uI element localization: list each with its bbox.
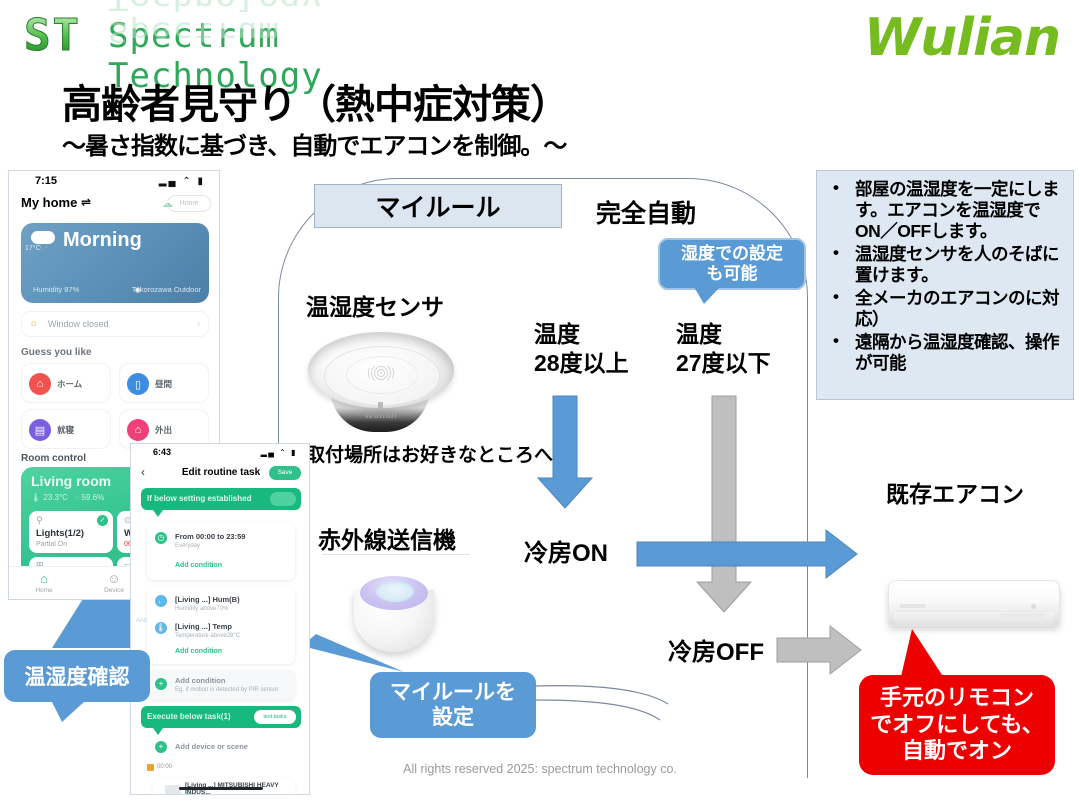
temp-humidity-sensor-image: Wulian <box>308 326 454 436</box>
scene-label: ホーム <box>57 378 82 390</box>
condition-title: From 00:00 to 23:59 <box>175 532 245 541</box>
scene-icon-away: ⌂ <box>127 419 149 441</box>
weather-temp: 17°C <box>25 245 41 252</box>
room-humidity-value: 59.6% <box>82 493 105 502</box>
sensor-grill-icon <box>366 365 396 381</box>
ir-cap-ring-icon <box>376 581 414 602</box>
temp-threshold-low: 温度 27度以下 <box>676 320 771 378</box>
add-device-row[interactable]: + Add device or scene <box>147 736 295 758</box>
page-subtitle: ～暑さ指数に基づき、自動でエアコンを制御。～ <box>62 126 566 161</box>
humidity-icon: ◌ <box>75 493 80 502</box>
execute-banner-text: Execute below task(1) <box>147 712 231 721</box>
home-title[interactable]: My home <box>21 195 77 210</box>
save-button[interactable]: Save <box>269 466 301 480</box>
nav-label: Home <box>35 587 52 594</box>
bell-icon: ⌂ <box>31 318 37 329</box>
thermometer-icon: 🌡 <box>31 493 41 502</box>
status-bar: 6:43 ▂▄ ⌃ ▮ <box>131 444 309 462</box>
mount-note: 取付場所はお好きなところへ <box>306 440 553 467</box>
page-title: 高齢者見守り（熱中症対策） <box>62 72 569 130</box>
full-auto-label: 完全自動 <box>596 194 696 230</box>
scene-card[interactable]: ▤ 就寝 <box>21 409 111 449</box>
add-condition-sub: Eg. if motion is detected by PIR sensor <box>175 687 278 693</box>
window-status-row[interactable]: ⌂ Window closed › <box>21 311 209 337</box>
room-name: Living room <box>31 473 111 489</box>
condition-sub: Everyday <box>175 543 200 549</box>
bullet-item: 部屋の温湿度を一定にします。エアコンを温湿度でON／OFFします。 <box>855 179 1065 242</box>
test-task-button[interactable]: test tasks <box>254 710 296 724</box>
cloud-shape <box>31 231 55 244</box>
sensor-brand-text: Wulian <box>308 410 454 420</box>
condition-title: [Living ...] Temp <box>175 622 232 631</box>
remote-override-text: 手元のリモコン でオフにしても、 自動でオン <box>870 685 1044 765</box>
scene-card[interactable]: ▯ 昼間 <box>119 363 209 403</box>
and-operator-label: And <box>136 618 147 624</box>
weather-greeting: Morning <box>63 229 142 252</box>
home-pill-button[interactable]: Home <box>167 195 211 212</box>
status-bar: 7:15 ▂▄ ⌃ ▮ <box>9 171 219 193</box>
sensor-led-icon <box>378 402 383 408</box>
condition-card[interactable]: ◷ From 00:00 to 23:59 Everyday Add condi… <box>147 522 295 580</box>
condition-title: [Living ...] Hum(B) <box>175 595 240 604</box>
st-monogram: ST <box>24 10 81 61</box>
sensor-label: 温湿度センサ <box>306 288 444 322</box>
st-wordmark-reflection: Spectrum Technology <box>108 0 464 48</box>
title-bar: ‹ Edit routine task Save <box>131 462 309 484</box>
existing-ac-label: 既存エアコン <box>886 475 1024 509</box>
weather-location: Tokorozawa Outdoor <box>132 285 201 294</box>
divider-line <box>322 554 470 555</box>
home-icon: ⌂ <box>9 571 79 586</box>
copyright-footer: All rights reserved 2025: spectrum techn… <box>0 762 1080 776</box>
room-control-header: Room control <box>21 453 86 464</box>
bullet-item: 温湿度センサを人のそばに置けます。 <box>855 244 1065 286</box>
nav-item-home[interactable]: ⌂ Home <box>9 571 79 594</box>
condition-banner-text: If below setting established <box>147 494 251 503</box>
nav-label: Device <box>104 587 124 594</box>
window-status-text: Window closed <box>48 319 109 329</box>
feature-bullet-panel: 部屋の温湿度を一定にします。エアコンを温湿度でON／OFFします。 温湿度センサ… <box>816 170 1074 400</box>
wulian-logo: Wulian <box>864 8 1060 68</box>
weather-humidity: Humidity 87% <box>33 285 79 294</box>
device-sub: Partial On <box>36 541 67 548</box>
status-time: 7:15 <box>35 175 57 187</box>
remote-override-callout: 手元のリモコン でオフにしても、 自動でオン <box>859 675 1055 775</box>
clock-icon: ◷ <box>155 532 167 544</box>
condition-banner-tail <box>153 510 163 517</box>
add-device-label: Add device or scene <box>175 742 248 751</box>
device-tile[interactable]: ⚲ ✓ Lights(1/2) Partial On <box>29 511 113 553</box>
home-indicator <box>179 787 263 790</box>
slide-root: ST Spectrum Technology Spectrum Technolo… <box>0 0 1080 807</box>
status-check-icon: ✓ <box>97 515 108 526</box>
sensor-dome <box>308 332 454 408</box>
scene-card[interactable]: ⌂ ホーム <box>21 363 111 403</box>
task-device-action: Open <box>185 793 200 795</box>
ac-indicator-icon <box>1031 604 1036 609</box>
set-rule-callout: マイルールを 設定 <box>370 672 536 738</box>
chevron-right-icon[interactable]: › <box>197 318 200 328</box>
condition-sub: Temperature above28°C <box>175 633 240 639</box>
status-time: 6:43 <box>153 447 171 457</box>
scene-icon-home: ⌂ <box>29 373 51 395</box>
temp-check-callout: 温湿度確認 <box>4 650 150 702</box>
ir-transmitter-image <box>350 568 438 654</box>
add-condition-card[interactable]: + Add condition Eg. if motion is detecte… <box>147 670 295 700</box>
red-callout-tail <box>900 629 946 681</box>
ir-transmitter-label: 赤外線送信機 <box>318 521 456 555</box>
condition-mode-toggle[interactable] <box>270 492 296 506</box>
condition-banner[interactable]: If below setting established <box>141 488 301 510</box>
cooling-off-label: 冷房OFF <box>668 632 764 667</box>
scene-icon-daytime: ▯ <box>127 373 149 395</box>
scene-icon-sleep: ▤ <box>29 419 51 441</box>
room-temp-value: 23.3°C <box>43 493 68 502</box>
add-condition-link[interactable]: Add condition <box>175 562 222 569</box>
scene-label: 昼間 <box>155 378 172 390</box>
plus-icon: + <box>155 678 167 690</box>
bulb-icon: ⚲ <box>36 515 43 526</box>
thermometer-icon: 🌡 <box>155 622 167 634</box>
condition-sub: Humidity above70% <box>175 606 228 612</box>
my-rule-box: マイルール <box>314 184 562 228</box>
cooling-on-label: 冷房ON <box>524 533 608 568</box>
plus-circle-icon: + <box>155 741 167 753</box>
status-icons: ▂▄ ⌃ ▮ <box>159 176 205 187</box>
bullet-item: 遠隔から温湿度確認、操作が可能 <box>855 332 1065 374</box>
feature-bullet-list: 部屋の温湿度を一定にします。エアコンを温湿度でON／OFFします。 温湿度センサ… <box>821 179 1065 374</box>
guess-you-like-header: Guess you like <box>21 347 92 358</box>
condition-card[interactable]: 💧 [Living ...] Hum(B) Humidity above70% … <box>147 586 295 664</box>
bullet-item: 全メーカのエアコンのに対応） <box>855 288 1065 330</box>
temp-threshold-high: 温度 28度以上 <box>534 320 629 378</box>
add-condition-link[interactable]: Add condition <box>175 648 222 655</box>
scene-label: 就寝 <box>57 424 74 436</box>
status-icons: ▂▄ ⌃ ▮ <box>261 448 297 457</box>
add-condition-title: Add condition <box>175 676 225 685</box>
scene-label: 外出 <box>155 424 172 436</box>
swap-home-icon[interactable]: ⇌ <box>81 195 91 209</box>
phone-screenshot-routine[interactable]: 6:43 ▂▄ ⌃ ▮ ‹ Edit routine task Save If … <box>130 443 310 795</box>
home-header: My home ⇌ ☁ Home <box>9 193 219 217</box>
humidity-setting-text: 湿度での設定 も可能 <box>681 244 783 283</box>
spectrum-technology-logo: ST Spectrum Technology Spectrum Technolo… <box>24 8 464 68</box>
ac-badge-icon <box>900 604 926 608</box>
device-title: Lights(1/2) <box>36 528 84 539</box>
temp-check-callout-tail <box>52 702 84 722</box>
ac-display-icon <box>1000 613 1044 618</box>
weather-card[interactable]: · · · 17°C Morning Humidity 87% ◉ Tokoro… <box>21 223 209 303</box>
set-rule-text: マイルールを 設定 <box>390 680 516 730</box>
execute-banner-tail <box>153 728 163 735</box>
execute-banner[interactable]: Execute below task(1) test tasks <box>141 706 301 728</box>
room-stats: 🌡 23.3°C ◌ 59.6% <box>31 493 104 502</box>
humidity-icon: 💧 <box>155 595 167 607</box>
humidity-setting-callout: 湿度での設定 も可能 <box>658 238 806 290</box>
